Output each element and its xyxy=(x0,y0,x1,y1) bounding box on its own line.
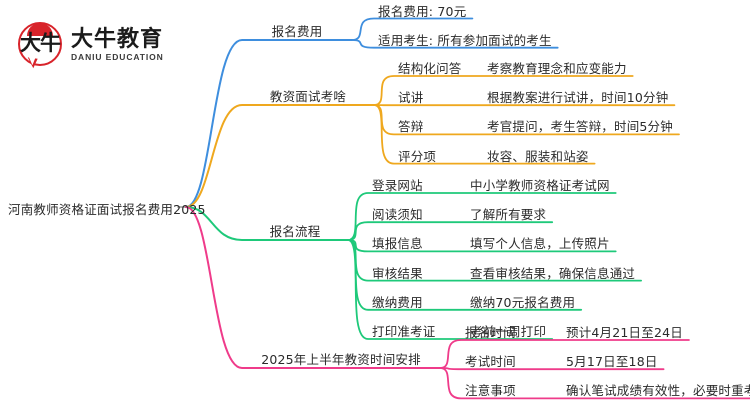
leaf-desc-4-1[interactable]: 预计4月21日至24日 xyxy=(566,322,683,341)
leaf-desc-3-4[interactable]: 查看审核结果，确保信息通过 xyxy=(470,263,635,282)
branch-label-4[interactable]: 2025年上半年教资时间安排 xyxy=(261,349,421,368)
leaf-label-4-2[interactable]: 考试时间 xyxy=(465,351,516,370)
leaf-label-3-6[interactable]: 打印准考证 xyxy=(372,321,436,340)
leaf-label-4-1[interactable]: 报名时间 xyxy=(465,322,516,341)
leaf-label-1-1[interactable]: 报名费用: 70元 xyxy=(378,1,466,20)
leaf-label-4-3[interactable]: 注意事项 xyxy=(465,380,516,399)
leaf-label-2-3[interactable]: 答辩 xyxy=(398,116,423,135)
branch-label-1[interactable]: 报名费用 xyxy=(272,21,323,40)
leaf-desc-2-4[interactable]: 妆容、服装和站姿 xyxy=(487,146,589,165)
logo-name-en: DANIU EDUCATION xyxy=(71,52,164,63)
leaf-label-3-3[interactable]: 填报信息 xyxy=(372,233,423,252)
leaf-desc-2-3[interactable]: 考官提问，考生答辩，时间5分钟 xyxy=(487,116,673,135)
leaf-desc-3-1[interactable]: 中小学教师资格证考试网 xyxy=(470,175,610,194)
leaf-desc-3-3[interactable]: 填写个人信息，上传照片 xyxy=(470,233,610,252)
logo-bubble-icon: 大牛 xyxy=(18,22,64,68)
leaf-label-2-1[interactable]: 结构化问答 xyxy=(398,58,462,77)
leaf-desc-4-3[interactable]: 确认笔试成绩有效性，必要时重考 xyxy=(566,380,750,399)
leaf-desc-4-2[interactable]: 5月17日至18日 xyxy=(566,351,658,370)
branch-label-2[interactable]: 教资面试考啥 xyxy=(270,86,346,105)
daniu-education-logo: 大牛 大牛教育 DANIU EDUCATION xyxy=(18,22,164,68)
leaf-desc-2-1[interactable]: 考察教育理念和应变能力 xyxy=(487,58,627,77)
logo-name-cn: 大牛教育 xyxy=(71,28,164,52)
leaf-desc-3-2[interactable]: 了解所有要求 xyxy=(470,204,546,223)
leaf-label-3-1[interactable]: 登录网站 xyxy=(372,175,423,194)
mindmap-root-node[interactable]: 河南教师资格证面试报名费用2025 xyxy=(8,199,206,218)
leaf-desc-3-5[interactable]: 缴纳70元报名费用 xyxy=(470,292,575,311)
leaf-label-3-5[interactable]: 缴纳费用 xyxy=(372,292,423,311)
mindmap-canvas: 大牛 大牛教育 DANIU EDUCATION 河南教师资格证面试报名费用202… xyxy=(0,0,750,410)
logo-glyph-text: 大牛 xyxy=(18,30,62,56)
leaf-label-2-2[interactable]: 试讲 xyxy=(398,87,423,106)
leaf-label-3-4[interactable]: 审核结果 xyxy=(372,263,423,282)
branch-label-3[interactable]: 报名流程 xyxy=(270,221,321,240)
leaf-desc-2-2[interactable]: 根据教案进行试讲，时间10分钟 xyxy=(487,87,668,106)
leaf-label-2-4[interactable]: 评分项 xyxy=(398,146,436,165)
leaf-label-1-2[interactable]: 适用考生: 所有参加面试的考生 xyxy=(378,30,552,49)
leaf-label-3-2[interactable]: 阅读须知 xyxy=(372,204,423,223)
